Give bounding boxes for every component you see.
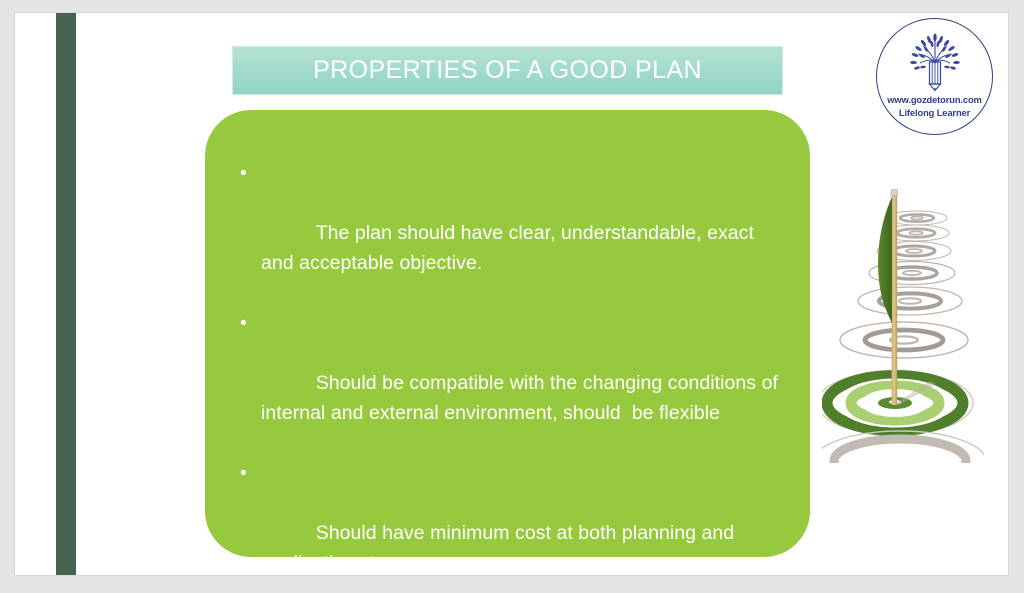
pencil-tree-icon xyxy=(904,32,966,94)
slide-title: PROPERTIES OF A GOOD PLAN xyxy=(313,56,702,85)
slide: PROPERTIES OF A GOOD PLAN • The plan sho… xyxy=(15,13,1008,575)
list-item: • Should have minimum cost at both plann… xyxy=(227,458,780,575)
presentation-canvas: PROPERTIES OF A GOOD PLAN • The plan sho… xyxy=(0,0,1024,593)
content-panel: • The plan should have clear, understand… xyxy=(205,110,810,557)
logo-tagline-text: Lifelong Learner xyxy=(876,108,993,118)
left-accent-bar xyxy=(56,13,76,575)
bullet-list: • The plan should have clear, understand… xyxy=(227,158,780,575)
bullet-marker: • xyxy=(240,158,254,188)
list-item: • The plan should have clear, understand… xyxy=(227,158,780,308)
bullet-text: The plan should have clear, understandab… xyxy=(261,222,759,274)
bullet-marker: • xyxy=(240,458,254,488)
dart-on-target-illustration xyxy=(822,165,984,463)
logo-badge: www.gozdetorun.com Lifelong Learner xyxy=(876,18,993,135)
logo-url-text: www.gozdetorun.com xyxy=(876,95,993,105)
title-banner: PROPERTIES OF A GOOD PLAN xyxy=(232,46,783,95)
bullet-text: Should have minimum cost at both plannin… xyxy=(261,522,740,574)
list-item: • Should be compatible with the changing… xyxy=(227,308,780,458)
bullet-text: Should be compatible with the changing c… xyxy=(261,372,783,424)
bullet-marker: • xyxy=(240,308,254,338)
